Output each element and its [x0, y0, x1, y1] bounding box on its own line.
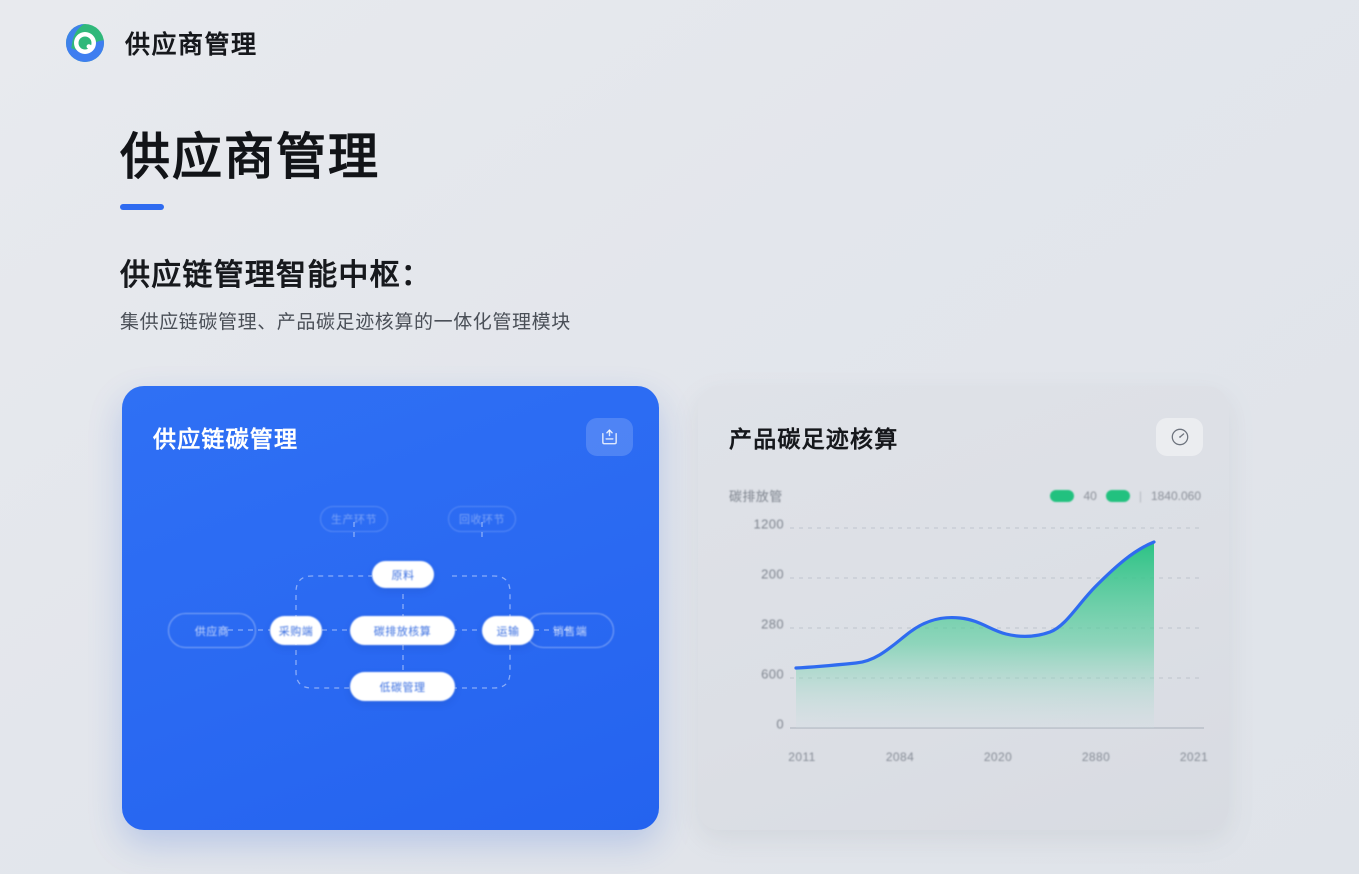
x-tick-4: 2021: [1180, 750, 1208, 764]
flow-node-top[interactable]: 原料: [372, 561, 434, 588]
chart-legend-title: 碳排放管: [729, 486, 783, 505]
legend-label-1: 40: [1083, 489, 1096, 503]
legend-swatch-1: [1050, 490, 1074, 502]
flow-node-bottom[interactable]: 低碳管理: [350, 672, 455, 701]
upload-tray-icon-button[interactable]: [586, 418, 633, 456]
flow-node-ghost-upper-right[interactable]: 回收环节: [448, 506, 516, 532]
flow-node-inner-left[interactable]: 采购端: [270, 616, 322, 645]
gauge-icon: [1169, 426, 1191, 448]
card-header: 产品碳足迹核算: [729, 414, 1203, 460]
flow-node-ghost-upper-left[interactable]: 生产环节: [320, 506, 388, 532]
area-chart-svg: [698, 520, 1229, 780]
chart-plot-area: [698, 520, 1229, 780]
chart-x-axis: 2011 2084 2020 2880 2021: [790, 750, 1202, 770]
x-tick-0: 2011: [788, 750, 815, 764]
carbon-footprint-chart: 碳排放管 40 | 1840.060 1200 200 280 600 0: [698, 478, 1229, 798]
legend-label-2: 1840.060: [1151, 489, 1201, 503]
section-subtitle: 供应链管理智能中枢：: [120, 250, 1240, 294]
title-accent-rule: [120, 204, 164, 210]
legend-separator: |: [1139, 489, 1142, 503]
brand-name: 供应商管理: [125, 25, 258, 61]
x-tick-3: 2880: [1082, 750, 1110, 764]
legend-swatch-2: [1106, 490, 1130, 502]
x-tick-2: 2020: [984, 750, 1012, 764]
chart-legend: 碳排放管 40 | 1840.060: [729, 486, 1201, 505]
card-title: 供应链碳管理: [153, 420, 298, 454]
circular-q-logo-icon: [62, 20, 108, 66]
card-header: 供应链碳管理: [153, 414, 633, 460]
supply-chain-flow-diagram: 碳排放核算 原料 低碳管理 采购端 运输 供应商 销售端 生产环节 回收环节: [122, 482, 659, 782]
hero-section: 供应商管理 供应链管理智能中枢： 集供应链碳管理、产品碳足迹核算的一体化管理模块: [120, 128, 1240, 334]
brand-header: 供应商管理: [62, 20, 258, 66]
gauge-icon-button[interactable]: [1156, 418, 1203, 456]
x-tick-1: 2084: [886, 750, 914, 764]
card-supply-chain-carbon[interactable]: 供应链碳管理: [122, 386, 659, 830]
chart-legend-series: 40 | 1840.060: [1050, 489, 1201, 503]
area-fill: [796, 542, 1154, 728]
cards-row: 供应链碳管理: [122, 386, 1229, 830]
flow-node-hub[interactable]: 碳排放核算: [350, 616, 455, 645]
upload-tray-icon: [599, 427, 620, 447]
flow-node-outer-left[interactable]: 供应商: [168, 613, 256, 648]
flow-node-outer-right[interactable]: 销售端: [526, 613, 614, 648]
card-title: 产品碳足迹核算: [729, 420, 898, 454]
card-product-carbon-footprint[interactable]: 产品碳足迹核算 碳排放管 40 | 1840.060: [698, 386, 1229, 830]
page-title: 供应商管理: [120, 128, 1240, 187]
section-description: 集供应链碳管理、产品碳足迹核算的一体化管理模块: [120, 307, 1240, 334]
